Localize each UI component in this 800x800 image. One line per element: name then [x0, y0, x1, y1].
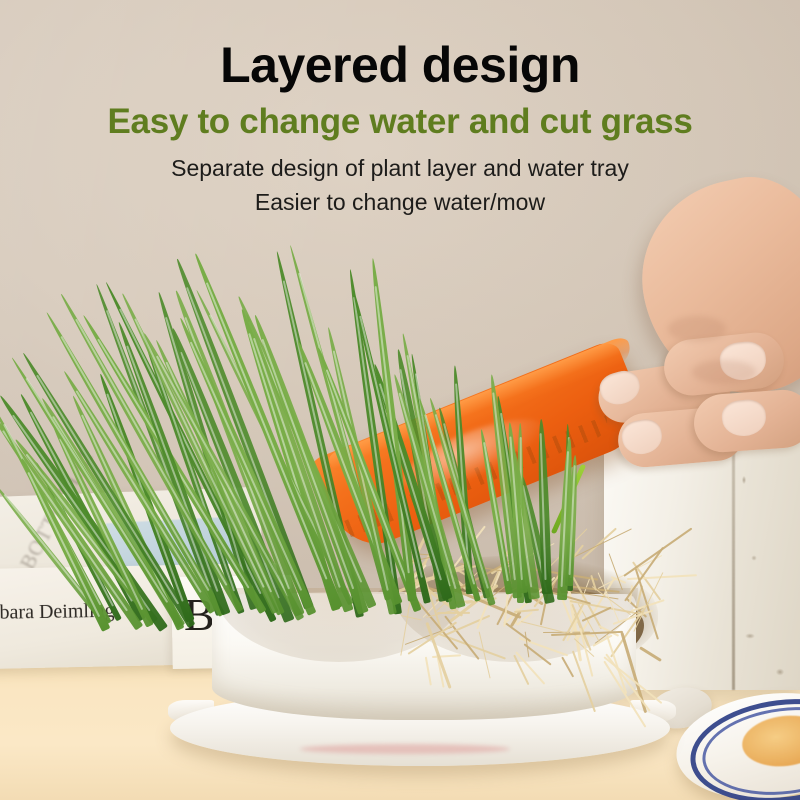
- knuckle-crease-2: [692, 360, 756, 384]
- product-marketing-image: BOTTICELLI arbara Deimling B: [0, 0, 800, 800]
- body-line-1: Separate design of plant layer and water…: [0, 154, 800, 183]
- saucer-pink-tint: [300, 744, 510, 754]
- body-line-2: Easier to change water/mow: [0, 188, 800, 217]
- page-title: Layered design: [0, 40, 800, 90]
- knuckle-crease-1: [668, 316, 726, 342]
- page-subtitle: Easy to change water and cut grass: [0, 104, 800, 139]
